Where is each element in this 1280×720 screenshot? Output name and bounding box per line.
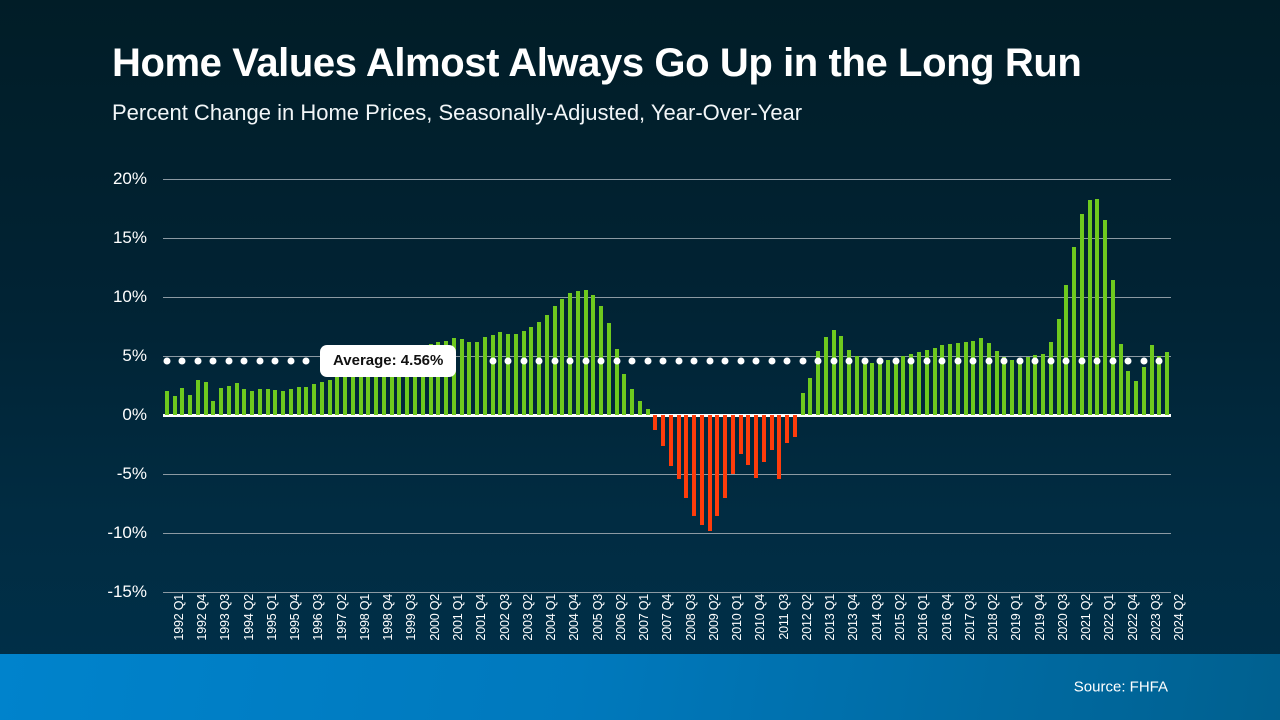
x-axis-tick-label: 2006 Q2 <box>614 594 628 641</box>
average-line-dot <box>675 358 682 365</box>
page-title: Home Values Almost Always Go Up in the L… <box>112 42 1212 84</box>
x-axis-tick-label: 2002 Q3 <box>498 594 512 641</box>
x-axis-tick-label: 1994 Q2 <box>242 594 256 641</box>
x-axis-tick-label: 2018 Q2 <box>986 594 1000 641</box>
average-line-dot <box>954 358 961 365</box>
average-line-dot <box>629 358 636 365</box>
x-axis-tick-label: 2007 Q1 <box>637 594 651 641</box>
average-line-dot <box>908 358 915 365</box>
x-axis-tick-label: 2016 Q4 <box>940 594 954 641</box>
average-line-dot <box>644 358 651 365</box>
footer-bar: Source: FHFA <box>0 654 1280 720</box>
average-line-dot <box>722 358 729 365</box>
x-axis-tick-label: 1992 Q1 <box>172 594 186 641</box>
average-line: Average: 4.56% <box>163 179 1171 592</box>
x-axis-tick-label: 1999 Q3 <box>404 594 418 641</box>
average-line-dot <box>970 358 977 365</box>
average-line-dot <box>1140 358 1147 365</box>
average-line-dot <box>830 358 837 365</box>
x-axis-tick-label: 2022 Q4 <box>1126 594 1140 641</box>
chart-subtitle: Percent Change in Home Prices, Seasonall… <box>112 100 1212 126</box>
x-axis-tick-label: 2011 Q3 <box>777 594 791 640</box>
x-axis-tick-label: 2016 Q1 <box>916 594 930 641</box>
average-line-dot <box>768 358 775 365</box>
average-line-dot <box>923 358 930 365</box>
x-axis-tick-label: 2001 Q1 <box>451 594 465 641</box>
average-line-dot <box>892 358 899 365</box>
x-axis-tick-label: 2024 Q2 <box>1172 594 1186 641</box>
average-line-dot <box>225 358 232 365</box>
x-axis-tick-label: 1998 Q4 <box>381 594 395 641</box>
y-axis-tick-label: 15% <box>93 228 147 248</box>
average-badge: Average: 4.56% <box>320 345 456 377</box>
x-axis-tick-label: 2023 Q3 <box>1149 594 1163 641</box>
x-axis-tick-label: 1995 Q4 <box>288 594 302 641</box>
y-axis-tick-label: 20% <box>93 169 147 189</box>
x-axis-tick-label: 2017 Q3 <box>963 594 977 641</box>
average-line-dot <box>799 358 806 365</box>
x-axis-tick-label: 2013 Q1 <box>823 594 837 641</box>
x-axis-tick-label: 2004 Q1 <box>544 594 558 641</box>
average-line-dot <box>939 358 946 365</box>
average-line-dot <box>1016 358 1023 365</box>
x-axis-tick-label: 2022 Q1 <box>1102 594 1116 641</box>
x-axis-tick-label: 1997 Q2 <box>335 594 349 641</box>
x-axis-tick-label: 2015 Q2 <box>893 594 907 641</box>
x-axis-tick-label: 1995 Q1 <box>265 594 279 641</box>
average-line-dot <box>272 358 279 365</box>
x-axis-tick-label: 1992 Q4 <box>195 594 209 641</box>
average-line-dot <box>861 358 868 365</box>
average-line-dot <box>241 358 248 365</box>
average-line-dot <box>179 358 186 365</box>
average-line-dot <box>256 358 263 365</box>
y-axis-tick-label: -10% <box>93 523 147 543</box>
average-line-dot <box>660 358 667 365</box>
average-line-dot <box>846 358 853 365</box>
x-axis-tick-label: 2020 Q3 <box>1056 594 1070 641</box>
x-axis-tick-label: 1998 Q1 <box>358 594 372 641</box>
average-line-dot <box>489 358 496 365</box>
y-axis-tick-label: 0% <box>93 405 147 425</box>
average-line-dot <box>567 358 574 365</box>
chart-header: Home Values Almost Always Go Up in the L… <box>112 42 1212 126</box>
y-axis-tick-label: 5% <box>93 346 147 366</box>
average-line-dot <box>1094 358 1101 365</box>
x-axis-tick-label: 2014 Q3 <box>870 594 884 641</box>
x-axis-tick-label: 2012 Q2 <box>800 594 814 641</box>
average-line-dot <box>753 358 760 365</box>
average-line-dot <box>210 358 217 365</box>
x-axis-tick-label: 2004 Q4 <box>567 594 581 641</box>
average-line-dot <box>582 358 589 365</box>
source-label: Source: FHFA <box>1074 679 1168 696</box>
average-line-dot <box>1156 358 1163 365</box>
average-line-dot <box>1001 358 1008 365</box>
average-line-dot <box>598 358 605 365</box>
x-axis-tick-label: 2009 Q2 <box>707 594 721 641</box>
average-line-dot <box>551 358 558 365</box>
average-line-dot <box>505 358 512 365</box>
average-line-dot <box>784 358 791 365</box>
x-axis-tick-label: 1996 Q3 <box>311 594 325 641</box>
average-line-dot <box>303 358 310 365</box>
average-line-dot <box>815 358 822 365</box>
average-line-dot <box>1078 358 1085 365</box>
average-line-dot <box>1063 358 1070 365</box>
average-line-dot <box>536 358 543 365</box>
average-line-dot <box>1032 358 1039 365</box>
average-line-dot <box>194 358 201 365</box>
x-axis-tick-label: 2019 Q4 <box>1033 594 1047 641</box>
chart-plot-area: Average: 4.56% <box>163 179 1171 592</box>
x-axis-tick-label: 2010 Q4 <box>753 594 767 641</box>
average-line-dot <box>163 358 170 365</box>
average-line-dot <box>520 358 527 365</box>
x-axis-tick-label: 2010 Q1 <box>730 594 744 641</box>
y-axis-tick-label: 10% <box>93 287 147 307</box>
average-line-dot <box>287 358 294 365</box>
average-line-dot <box>1109 358 1116 365</box>
average-line-dot <box>985 358 992 365</box>
x-axis-tick-label: 2013 Q4 <box>846 594 860 641</box>
average-line-dot <box>737 358 744 365</box>
y-axis-tick-label: -5% <box>93 464 147 484</box>
x-axis-tick-label: 2005 Q3 <box>591 594 605 641</box>
average-line-dot <box>691 358 698 365</box>
x-axis-tick-label: 2008 Q3 <box>684 594 698 641</box>
x-axis-tick-label: 2001 Q4 <box>474 594 488 641</box>
x-axis-tick-label: 2019 Q1 <box>1009 594 1023 641</box>
x-axis-tick-label: 2021 Q2 <box>1079 594 1093 641</box>
x-axis-tick-label: 2003 Q2 <box>521 594 535 641</box>
average-line-dot <box>877 358 884 365</box>
x-axis-tick-label: 2000 Q2 <box>428 594 442 641</box>
average-line-dot <box>1125 358 1132 365</box>
average-line-dot <box>613 358 620 365</box>
x-axis-tick-label: 2007 Q4 <box>660 594 674 641</box>
x-axis-tick-label: 1993 Q3 <box>218 594 232 641</box>
average-line-dot <box>706 358 713 365</box>
average-line-dot <box>1047 358 1054 365</box>
